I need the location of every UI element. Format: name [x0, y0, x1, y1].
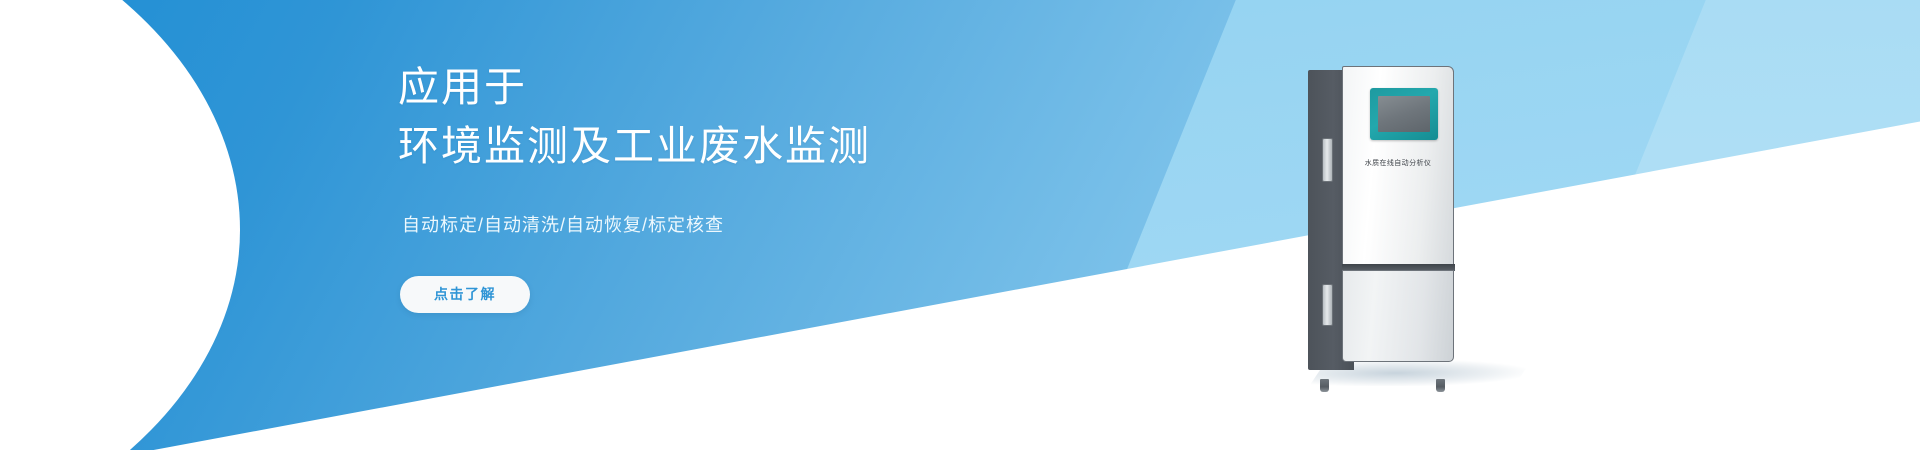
- device-front-label: 水质在线自动分析仪: [1342, 158, 1454, 168]
- device-lower-handle: [1322, 284, 1333, 326]
- headline-line-1: 应用于: [398, 58, 1158, 117]
- banner-headline: 应用于 环境监测及工业废水监测: [398, 58, 1158, 177]
- device-lower-door: [1342, 270, 1454, 362]
- banner-copy: 应用于 环境监测及工业废水监测 自动标定/自动清洗/自动恢复/标定核查 点击了解: [398, 58, 1158, 313]
- device-caster-left: [1320, 379, 1329, 392]
- hero-banner: 应用于 环境监测及工业废水监测 自动标定/自动清洗/自动恢复/标定核查 点击了解…: [0, 0, 1920, 450]
- analyzer-device-image: 水质在线自动分析仪: [1308, 62, 1498, 382]
- learn-more-button[interactable]: 点击了解: [400, 276, 530, 313]
- banner-subtitle: 自动标定/自动清洗/自动恢复/标定核查: [402, 213, 1158, 238]
- device-screen-bezel: [1370, 88, 1438, 140]
- headline-line-2: 环境监测及工业废水监测: [398, 117, 1158, 176]
- device-upper-handle: [1322, 138, 1333, 182]
- device-caster-right: [1436, 379, 1445, 392]
- device-screen: [1378, 96, 1430, 132]
